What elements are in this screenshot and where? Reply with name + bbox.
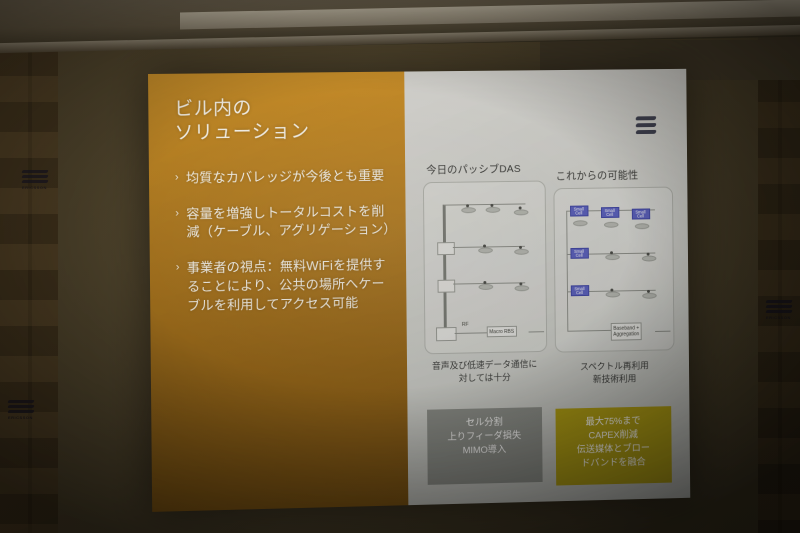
baseband-aggregation-box: Baseband + Aggregation <box>610 322 642 340</box>
presentation-slide: ビル内の ソリューション › 均質なカバレッジが今後とも重要 › 容量を増強しト… <box>148 69 690 512</box>
antenna-icon <box>641 253 654 261</box>
callout-passive-das-issues: セル分割 上りフィーダ損失 MIMO導入 <box>427 407 543 485</box>
slide-left-panel: ビル内の ソリューション › 均質なカバレッジが今後とも重要 › 容量を増強しト… <box>148 72 408 512</box>
chevron-right-icon: › <box>175 170 186 189</box>
slide-title-line-2: ソリューション <box>174 120 309 146</box>
antenna-icon <box>642 290 655 298</box>
splitter-box <box>437 280 455 293</box>
small-cell-node: Small Cell <box>570 205 588 216</box>
antenna-icon <box>478 281 491 289</box>
diagram-future-small-cell: Small Cell Small Cell Small Cell Small C… <box>553 187 674 353</box>
callout-future-benefits: 最大75%まで CAPEX削減 伝送媒体とブロー ドバンドを融合 <box>555 406 671 485</box>
ericsson-logo-icon <box>636 116 656 137</box>
antenna-icon <box>634 220 647 228</box>
antenna-icon <box>605 251 618 259</box>
projection-screen: ビル内の ソリューション › 均質なカバレッジが今後とも重要 › 容量を増強しト… <box>0 0 800 533</box>
aggregation-link <box>567 330 613 332</box>
antenna-icon <box>603 219 616 227</box>
riser-trunk <box>566 211 568 331</box>
bullet-text: 事業者の視点：無料WiFiを提供することにより、公共の場所へケーブルを利用してア… <box>187 256 395 316</box>
bullet-item: › 事業者の視点：無料WiFiを提供することにより、公共の場所へケーブルを利用し… <box>176 256 395 316</box>
bullet-text: 容量を増強しトータルコストを削減（ケーブル、アグリゲーション） <box>186 202 393 242</box>
backhaul-wire <box>655 331 670 332</box>
diagram-caption-future: スペクトル再利用 新技術利用 <box>553 359 677 387</box>
small-cell-node: Small Cell <box>570 248 588 259</box>
antenna-icon <box>485 204 498 212</box>
bullet-text: 均質なカバレッジが今後とも重要 <box>186 167 393 188</box>
headend-box <box>436 327 457 341</box>
antenna-icon <box>513 206 526 214</box>
antenna-icon <box>573 217 586 225</box>
floor-wire <box>443 203 525 205</box>
antenna-icon <box>605 289 618 297</box>
diagram-caption-passive-das: 音声及び低速データ通信に 対しては十分 <box>416 358 553 387</box>
antenna-icon <box>478 244 491 252</box>
rf-label: RF <box>462 322 469 328</box>
antenna-icon <box>514 246 527 254</box>
diagram-heading-future: これからの可能性 <box>556 167 639 183</box>
conference-room-photo: ERICSSON ERICSSON ERICSSON ビル内の ソリューション … <box>0 0 800 533</box>
bullet-list: › 均質なカバレッジが今後とも重要 › 容量を増強しトータルコストを削減（ケーブ… <box>175 167 395 333</box>
bullet-item: › 均質なカバレッジが今後とも重要 <box>175 167 393 189</box>
backhaul-wire <box>528 331 544 332</box>
chevron-right-icon: › <box>175 205 186 243</box>
slide-title-line-1: ビル内の <box>174 96 309 122</box>
chevron-right-icon: › <box>176 260 187 316</box>
antenna-icon <box>514 282 527 290</box>
diagram-heading-passive-das: 今日のパッシブDAS <box>426 161 521 177</box>
splitter-box <box>437 242 455 255</box>
slide-right-panel: 今日のパッシブDAS これからの可能性 <box>404 69 691 505</box>
small-cell-node: Small Cell <box>631 208 649 219</box>
rf-link <box>454 332 486 334</box>
antenna-icon <box>461 204 474 212</box>
slide-title: ビル内の ソリューション <box>174 96 309 146</box>
bullet-item: › 容量を増強しトータルコストを削減（ケーブル、アグリゲーション） <box>175 202 393 243</box>
small-cell-node: Small Cell <box>600 207 618 218</box>
macro-rbs-box: Macro RBS <box>486 326 517 338</box>
riser-trunk <box>442 205 446 332</box>
diagram-passive-das: RF Macro RBS <box>422 180 546 354</box>
small-cell-node: Small Cell <box>570 285 588 296</box>
